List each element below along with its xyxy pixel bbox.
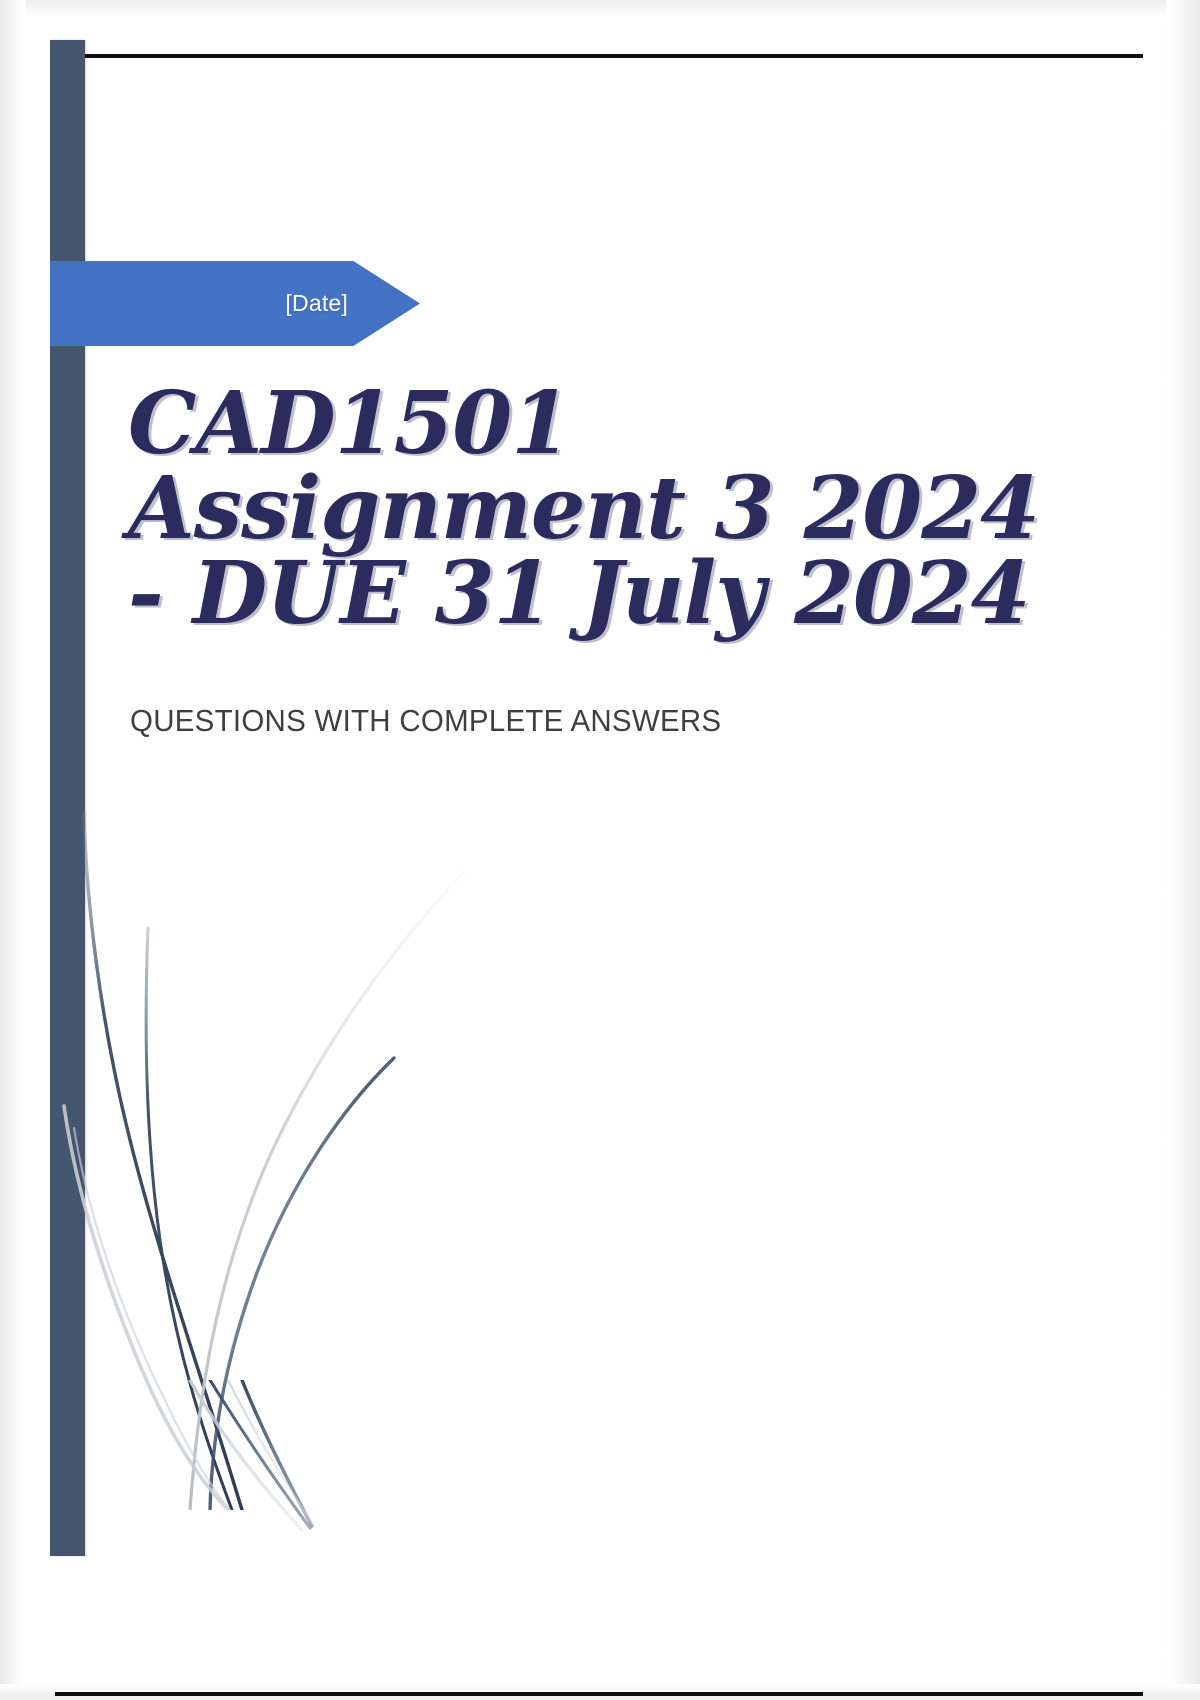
date-banner[interactable]: [Date] [50,261,420,346]
date-placeholder-text[interactable]: [Date] [285,290,348,317]
whisp-grass-lower-icon [60,1380,490,1580]
bottom-horizontal-rule [55,1692,1143,1696]
page-subtitle: QUESTIONS WITH COMPLETE ANSWERS [130,703,721,739]
document-page: [Date] CAD1501 Assignment 3 2024 - DUE 3… [0,0,1200,1700]
page-edge-shade-left [0,0,26,1700]
page-edge-shade-top [0,0,1200,18]
whisp-grass-decoration-lower [60,1380,490,1580]
whisp-grass-icon [60,810,490,1510]
page-edge-shade-right [1166,0,1200,1700]
top-horizontal-rule [84,54,1143,58]
title-block: CAD1501 Assignment 3 2024 - DUE 31 July … [128,381,1068,636]
whisp-grass-decoration [60,810,490,1510]
page-title: CAD1501 Assignment 3 2024 - DUE 31 July … [128,381,1068,636]
